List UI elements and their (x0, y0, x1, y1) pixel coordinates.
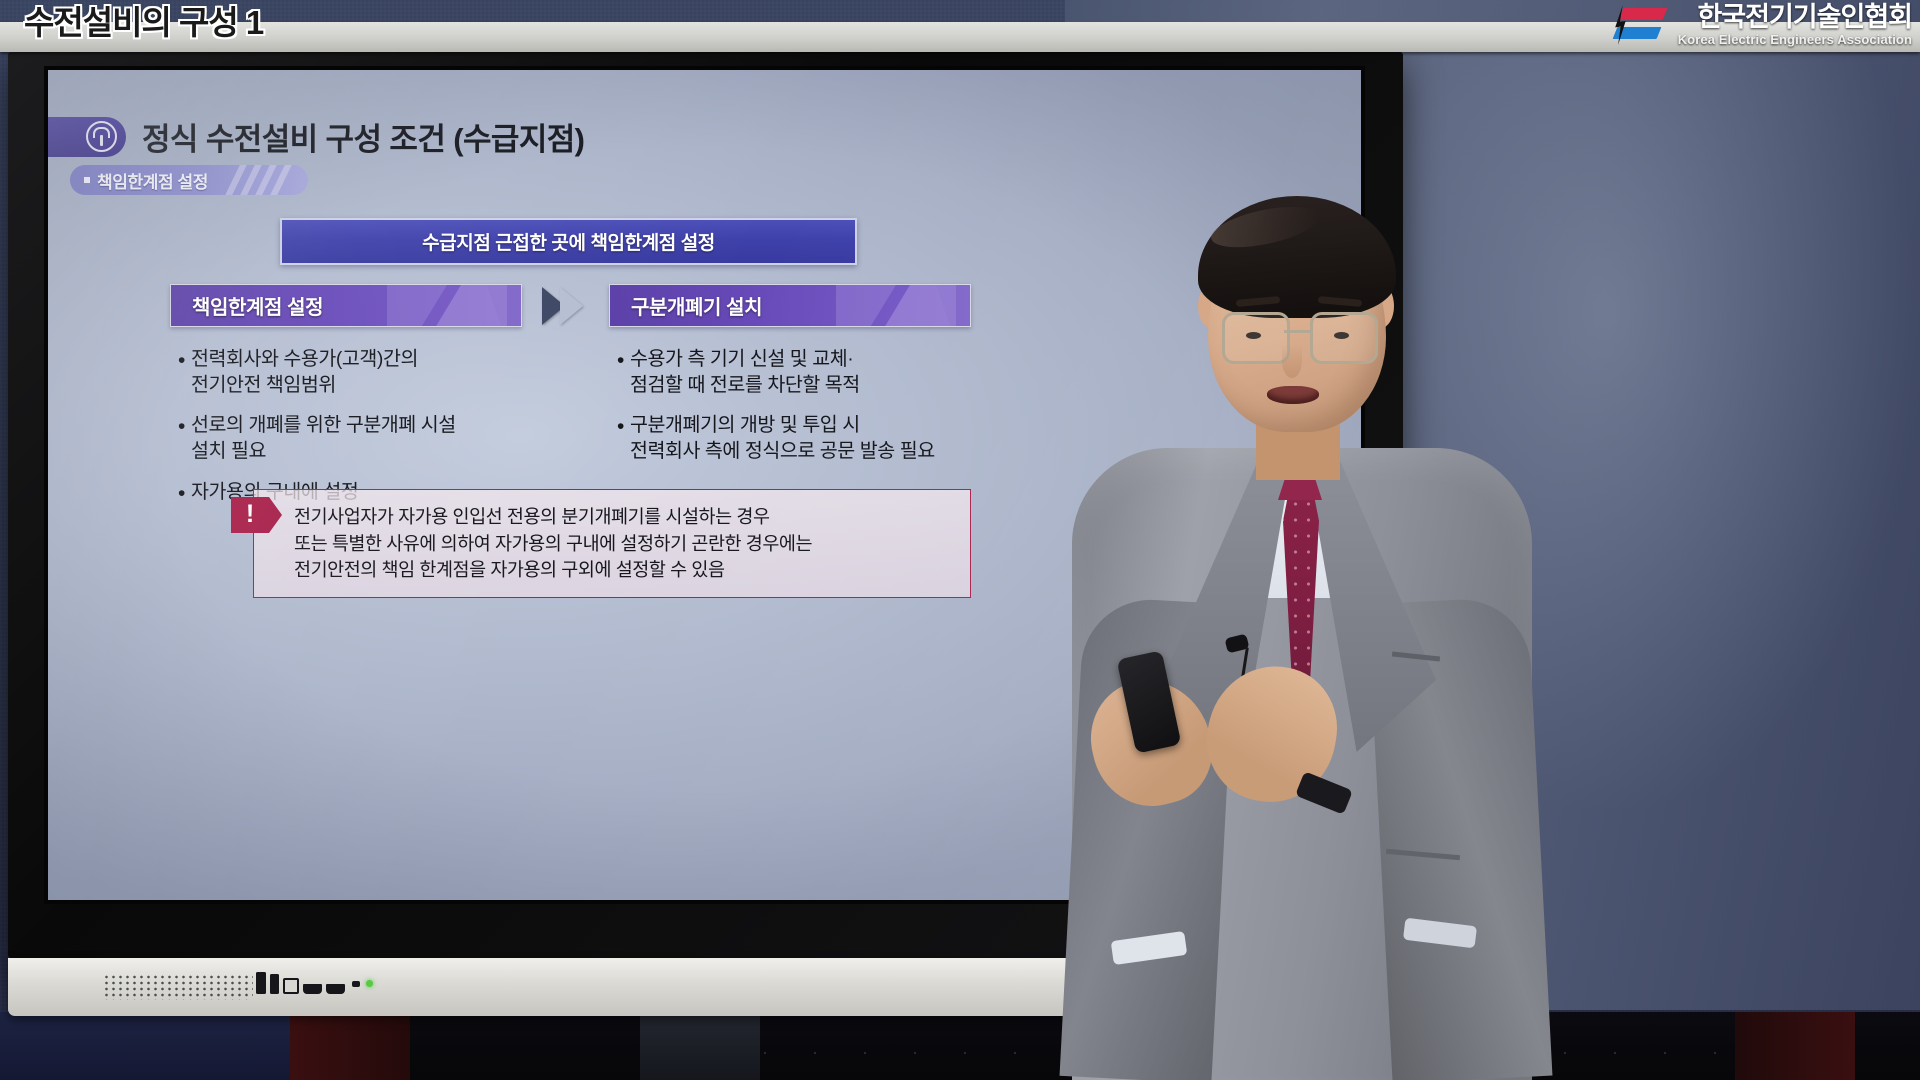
slide-header: 정식 수전설비 구성 조건 (수급지점) (48, 114, 584, 159)
organization-logo: 한국전기기술인협회 Korea Electric Engineers Assoc… (1607, 4, 1912, 46)
bullet-dot-icon: • (617, 413, 630, 464)
list-item-text: 수용가 측 기기 신설 및 교체· 점검할 때 전로를 차단할 목적 (630, 347, 860, 398)
presenter-shirt-cuff (1403, 918, 1477, 949)
kea-logo-mark-icon (1607, 5, 1669, 45)
presenter-shirt-cuff (1111, 931, 1188, 965)
column-right: 구분개폐기 설치 • 수용가 측 기기 신설 및 교체· 점검할 때 전로를 차… (609, 284, 971, 480)
square-port-icon[interactable] (283, 978, 299, 994)
ir-sensor-icon (352, 981, 360, 987)
presenter (1030, 180, 1590, 1080)
warning-line: 또는 특별한 사유에 의하여 자가용의 구내에 설정하기 곤란한 경우에는 (294, 531, 952, 558)
bullet-dot-icon: • (617, 347, 630, 398)
column-left-heading-label: 책임한계점 설정 (192, 291, 323, 320)
bullet-dot-icon: • (178, 413, 191, 464)
column-right-bullets: • 수용가 측 기기 신설 및 교체· 점검할 때 전로를 차단할 목적 • 구… (609, 347, 971, 465)
list-item-text: 구분개폐기의 개방 및 투입 시 전력회사 측에 정식으로 공문 발송 필요 (630, 413, 935, 464)
studio-floor-left-panel (0, 1012, 300, 1080)
double-chevron-right-icon (538, 284, 598, 328)
column-right-heading-label: 구분개폐기 설치 (631, 291, 762, 320)
organization-name-english: Korea Electric Engineers Association (1678, 33, 1912, 46)
column-left-heading: 책임한계점 설정 (170, 284, 522, 327)
usb-port-icon[interactable] (270, 974, 279, 994)
power-indicator (352, 980, 373, 987)
exclamation-glyph: ! (246, 502, 254, 527)
hdmi-port-icon[interactable] (303, 984, 322, 994)
video-frame: 정식 수전설비 구성 조건 (수급지점) 책임한계점 설정 수급지점 근접한 곳… (0, 0, 1920, 1080)
list-item: • 수용가 측 기기 신설 및 교체· 점검할 때 전로를 차단할 목적 (617, 347, 971, 398)
studio-floor-accent-left (290, 1012, 410, 1080)
column-left: 책임한계점 설정 • 전력회사와 수용가(고객)간의 전기안전 책임범위 • 선… (170, 284, 522, 523)
column-right-heading: 구분개폐기 설치 (609, 284, 971, 327)
exclamation-mark-icon: ! (231, 497, 269, 533)
list-item-text: 선로의 개폐를 위한 구분개폐 시설 설치 필요 (191, 413, 456, 464)
warning-callout: ! 전기사업자가 자가용 인입선 전용의 분기개폐기를 시설하는 경우 또는 특… (253, 489, 971, 598)
lecture-title: 수전설비의 구성 1 (24, 0, 263, 44)
slide-header-badge (48, 117, 126, 157)
pill-streak-decoration (228, 165, 294, 195)
speaker-grille-left (103, 974, 253, 1000)
studio-floor-accent-right (1735, 1012, 1855, 1080)
port-cluster[interactable] (256, 972, 345, 994)
list-item-text: 전력회사와 수용가(고객)간의 전기안전 책임범위 (191, 347, 418, 398)
column-left-bullets: • 전력회사와 수용가(고객)간의 전기안전 책임범위 • 선로의 개폐를 위한… (170, 347, 522, 508)
subtitle-pill: 책임한계점 설정 (70, 165, 308, 195)
list-item: • 선로의 개폐를 위한 구분개폐 시설 설치 필요 (178, 413, 522, 464)
monitor-stand (640, 1016, 760, 1080)
bullet-dot-icon: • (178, 480, 191, 508)
plug-circle-icon (86, 121, 117, 152)
hdmi-port-icon[interactable] (326, 984, 345, 994)
warning-line: 전기안전의 책임 한계점을 자가용의 구외에 설정할 수 있음 (294, 557, 952, 584)
organization-logo-text: 한국전기기술인협회 Korea Electric Engineers Assoc… (1678, 4, 1912, 46)
main-banner: 수급지점 근접한 곳에 책임한계점 설정 (280, 218, 857, 265)
pill-bullet-icon (84, 177, 90, 183)
usb-port-icon[interactable] (256, 972, 266, 994)
bullet-dot-icon: • (178, 347, 191, 398)
list-item: • 구분개폐기의 개방 및 투입 시 전력회사 측에 정식으로 공문 발송 필요 (617, 413, 971, 464)
power-led-icon (366, 980, 373, 987)
organization-name-korean: 한국전기기술인협회 (1678, 4, 1912, 31)
presenter-wristwatch (1295, 771, 1353, 815)
presenter-hands (1030, 180, 1590, 1080)
top-title-bar: 수전설비의 구성 1 한국전기기술인협회 Korea Electric Engi… (0, 0, 1920, 52)
warning-line: 전기사업자가 자가용 인입선 전용의 분기개폐기를 시설하는 경우 (294, 504, 952, 531)
list-item: • 전력회사와 수용가(고객)간의 전기안전 책임범위 (178, 347, 522, 398)
subtitle-pill-label: 책임한계점 설정 (97, 168, 208, 193)
main-banner-label: 수급지점 근접한 곳에 책임한계점 설정 (422, 228, 715, 255)
page-title: 정식 수전설비 구성 조건 (수급지점) (142, 114, 584, 159)
